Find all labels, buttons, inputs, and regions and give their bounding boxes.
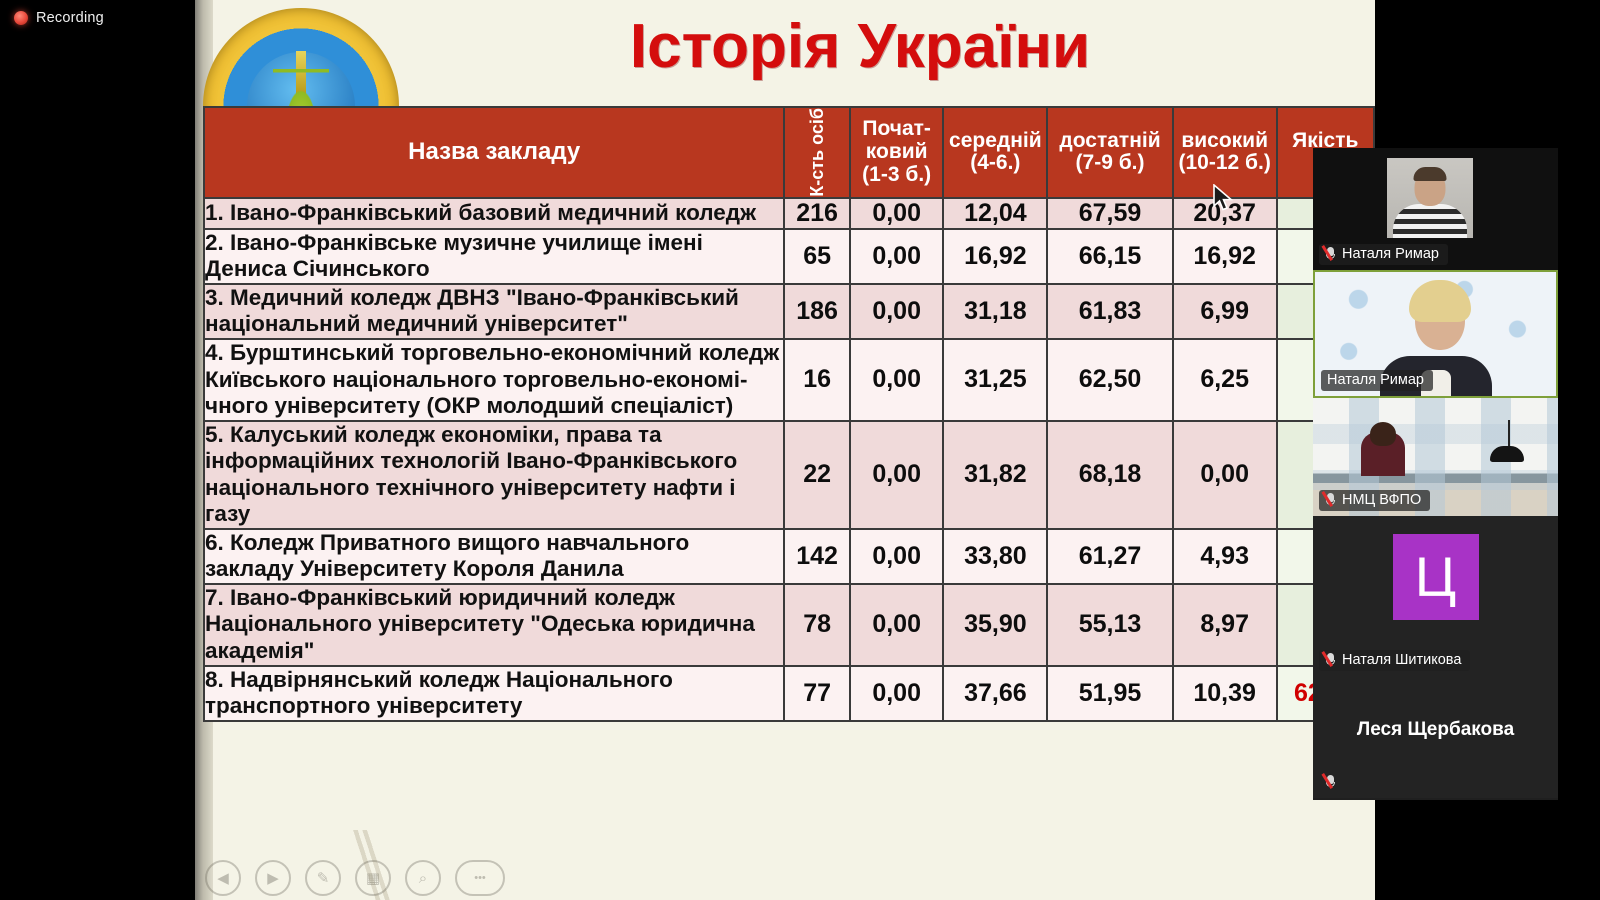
cell-beginner: 0,00: [850, 198, 944, 229]
cell-middle: 16,92: [943, 229, 1047, 284]
participant-name-0: Наталя Римар: [1342, 246, 1439, 262]
participant-namebar-1: Наталя Римар: [1321, 370, 1433, 391]
cell-institution-name: 7. Івано-Франківський юридичний коледж Н…: [204, 584, 784, 666]
middle-line-1: середній: [944, 130, 1046, 153]
cell-high: 16,92: [1173, 229, 1277, 284]
beginner-line-1: Почат-: [851, 118, 943, 141]
table-row: 3. Медичний коледж ДВНЗ "Івано-Франківсь…: [204, 284, 1374, 339]
cell-sufficient: 68,18: [1047, 421, 1173, 529]
cell-middle: 33,80: [943, 529, 1047, 584]
grades-table-body: 1. Івано-Франківський базовий медичний к…: [204, 198, 1374, 721]
more-options-button[interactable]: •••: [455, 860, 505, 896]
cell-beginner: 0,00: [850, 666, 944, 721]
cell-student-count: 16: [784, 339, 850, 421]
cell-institution-name: 2. Івано-Франківське музичне училище іме…: [204, 229, 784, 284]
zoom-screenshare-window: Recording Історія України Назва закладу …: [0, 0, 1600, 900]
participant-tile-1[interactable]: Наталя Римар: [1313, 270, 1558, 398]
column-header-student-count-text: К-сть осіб: [807, 108, 828, 197]
conference-microphone-icon: [1490, 446, 1524, 462]
table-row: 6. Коледж Приватного вищого навчального …: [204, 529, 1374, 584]
table-row: 2. Івано-Франківське музичне училище іме…: [204, 229, 1374, 284]
column-header-beginner: Почат- ковий (1-3 б.): [850, 107, 944, 198]
mic-muted-icon: [1325, 492, 1336, 508]
column-header-student-count: К-сть осіб: [784, 107, 850, 198]
cell-high: 10,39: [1173, 666, 1277, 721]
cell-student-count: 65: [784, 229, 850, 284]
count-line-1: К-сть: [807, 150, 827, 197]
cell-beginner: 0,00: [850, 229, 944, 284]
cell-beginner: 0,00: [850, 529, 944, 584]
cell-beginner: 0,00: [850, 284, 944, 339]
cell-sufficient: 61,27: [1047, 529, 1173, 584]
participant-hair-0: [1414, 167, 1447, 181]
participant-body-0: [1393, 204, 1467, 238]
cell-middle: 35,90: [943, 584, 1047, 666]
participant-name-1: Наталя Римар: [1327, 372, 1424, 388]
grades-table: Назва закладу К-сть осіб Почат- ковий (1…: [203, 106, 1375, 722]
play-slide-button[interactable]: ▶: [255, 860, 291, 896]
cell-sufficient: 55,13: [1047, 584, 1173, 666]
cell-middle: 31,82: [943, 421, 1047, 529]
cell-institution-name: 6. Коледж Приватного вищого навчального …: [204, 529, 784, 584]
participant-tile-2[interactable]: НМЦ ВФПО: [1313, 398, 1558, 516]
cell-student-count: 186: [784, 284, 850, 339]
table-row: 7. Івано-Франківський юридичний коледж Н…: [204, 584, 1374, 666]
slide-player-toolbar[interactable]: ◀▶✎▦⌕•••: [205, 860, 505, 896]
cell-institution-name: 1. Івано-Франківський базовий медичний к…: [204, 198, 784, 229]
beginner-line-2: ковий: [851, 141, 943, 164]
cell-high: 6,99: [1173, 284, 1277, 339]
zoom-slide-button[interactable]: ⌕: [405, 860, 441, 896]
cell-sufficient: 62,50: [1047, 339, 1173, 421]
participant-name-4: Леся Щербакова: [1313, 719, 1558, 741]
cell-middle: 31,18: [943, 284, 1047, 339]
sufficient-line-1: достатній: [1048, 130, 1172, 153]
participant-webcam-0: [1387, 158, 1473, 238]
mic-muted-icon: [1325, 652, 1336, 668]
cell-student-count: 142: [784, 529, 850, 584]
previous-slide-button[interactable]: ◀: [205, 860, 241, 896]
recording-dot-icon: [14, 11, 28, 25]
slide-title: Історія України: [395, 16, 1325, 78]
cell-high: 20,37: [1173, 198, 1277, 229]
cell-sufficient: 51,95: [1047, 666, 1173, 721]
recording-indicator: Recording: [14, 10, 104, 26]
cell-institution-name: 5. Калуський коледж економіки, права та …: [204, 421, 784, 529]
cell-student-count: 216: [784, 198, 850, 229]
high-line-2: (10-12 б.): [1174, 152, 1276, 175]
mic-muted-icon: [1325, 246, 1336, 262]
cell-high: 8,97: [1173, 584, 1277, 666]
participant-tile-0[interactable]: Наталя Римар: [1313, 148, 1558, 270]
slide-menu-button[interactable]: ▦: [355, 860, 391, 896]
mic-muted-icon: [1325, 774, 1336, 790]
cell-institution-name: 8. Надвірнянський коледж Національного т…: [204, 666, 784, 721]
recording-label: Recording: [36, 10, 104, 26]
middle-line-2: (4-6.): [944, 152, 1046, 175]
cell-sufficient: 67,59: [1047, 198, 1173, 229]
shared-slide: Історія України Назва закладу К-сть осіб…: [195, 0, 1375, 900]
pen-tool-button[interactable]: ✎: [305, 860, 341, 896]
column-header-sufficient: достатній (7-9 б.): [1047, 107, 1173, 198]
participant-namebar-3: Наталя Шитикова: [1319, 650, 1470, 671]
high-line-1: високий: [1174, 130, 1276, 153]
cell-sufficient: 66,15: [1047, 229, 1173, 284]
cell-student-count: 22: [784, 421, 850, 529]
participant-tile-3[interactable]: Ц Наталя Шитикова: [1313, 516, 1558, 676]
cell-middle: 12,04: [943, 198, 1047, 229]
cell-student-count: 78: [784, 584, 850, 666]
cell-beginner: 0,00: [850, 421, 944, 529]
avatar: Ц: [1393, 534, 1479, 620]
cell-institution-name: 3. Медичний коледж ДВНЗ "Івано-Франківсь…: [204, 284, 784, 339]
participant-namebar-0: Наталя Римар: [1319, 244, 1448, 265]
participant-tile-4[interactable]: Леся Щербакова: [1313, 676, 1558, 798]
column-header-institution: Назва закладу: [204, 107, 784, 198]
cell-middle: 37,66: [943, 666, 1047, 721]
cell-institution-name: 4. Бурштинський торговельно-економічний …: [204, 339, 784, 421]
sufficient-line-2: (7-9 б.): [1048, 152, 1172, 175]
participant-name-2: НМЦ ВФПО: [1342, 492, 1421, 508]
cell-high: 6,25: [1173, 339, 1277, 421]
participant-name-3: Наталя Шитикова: [1342, 652, 1461, 668]
count-line-2: осіб: [807, 108, 827, 145]
column-header-high: високий (10-12 б.): [1173, 107, 1277, 198]
column-header-middle: середній (4-6.): [943, 107, 1047, 198]
table-header-row: Назва закладу К-сть осіб Почат- ковий (1…: [204, 107, 1374, 198]
participant-head-2: [1370, 422, 1396, 446]
participant-namebar-2: НМЦ ВФПО: [1319, 490, 1430, 511]
cell-high: 4,93: [1173, 529, 1277, 584]
table-row: 4. Бурштинський торговельно-економічний …: [204, 339, 1374, 421]
cell-sufficient: 61,83: [1047, 284, 1173, 339]
cell-student-count: 77: [784, 666, 850, 721]
table-row: 8. Надвірнянський коледж Національного т…: [204, 666, 1374, 721]
cell-beginner: 0,00: [850, 584, 944, 666]
table-row: 1. Івано-Франківський базовий медичний к…: [204, 198, 1374, 229]
microphone-stand-icon: [1508, 420, 1510, 448]
cell-beginner: 0,00: [850, 339, 944, 421]
table-row: 5. Калуський коледж економіки, права та …: [204, 421, 1374, 529]
cell-high: 0,00: [1173, 421, 1277, 529]
cell-middle: 31,25: [943, 339, 1047, 421]
participants-video-strip[interactable]: Наталя Римар Наталя Римар НМЦ ВФПО: [1313, 148, 1558, 800]
beginner-line-3: (1-3 б.): [851, 164, 943, 187]
